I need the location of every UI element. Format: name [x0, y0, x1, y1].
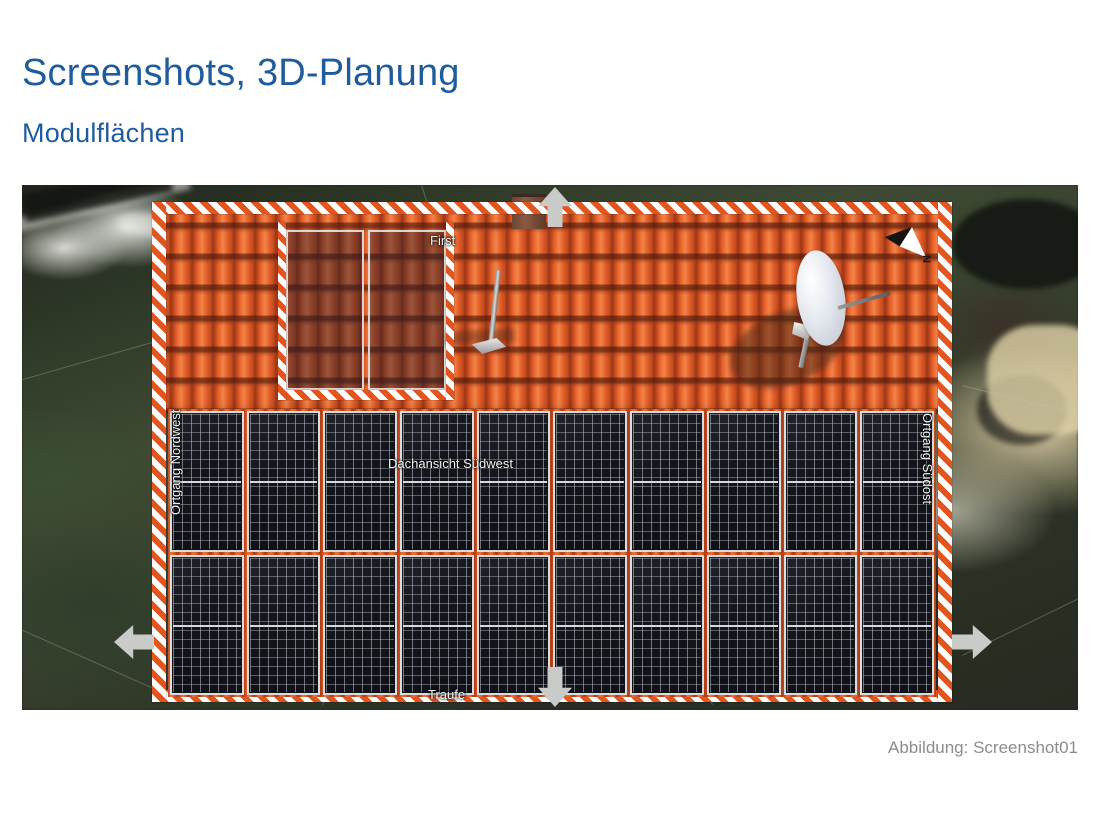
pv-module[interactable]: [400, 555, 474, 696]
module-area-right[interactable]: [368, 230, 446, 390]
pv-module[interactable]: [170, 555, 244, 696]
module-area-left[interactable]: [286, 230, 364, 390]
module-area-hatch-right: [446, 222, 454, 400]
module-area-hatch-bottom: [278, 390, 454, 400]
screenshot-3d-planner-viewport[interactable]: First Traufe Dachansicht Südwest Ortgang…: [22, 185, 1078, 710]
pv-module[interactable]: [784, 411, 858, 552]
pv-module[interactable]: [323, 555, 397, 696]
pv-module[interactable]: [860, 555, 934, 696]
pv-module[interactable]: [247, 411, 321, 552]
pv-module[interactable]: [553, 555, 627, 696]
pv-module[interactable]: [170, 411, 244, 552]
pv-module[interactable]: [707, 411, 781, 552]
page-subtitle: Modulflächen: [22, 118, 185, 149]
pv-module-field[interactable]: [168, 409, 936, 697]
pv-module[interactable]: [630, 411, 704, 552]
pv-module[interactable]: [860, 411, 934, 552]
roof-selection-border-left[interactable]: [152, 202, 166, 702]
pv-module[interactable]: [477, 555, 551, 696]
pv-module[interactable]: [323, 411, 397, 552]
pv-module[interactable]: [400, 411, 474, 552]
north-arrow-icon[interactable]: N: [882, 227, 952, 287]
pv-module[interactable]: [707, 555, 781, 696]
page-title: Screenshots, 3D-Planung: [22, 52, 460, 95]
pv-module[interactable]: [247, 555, 321, 696]
figure-caption: Abbildung: Screenshot01: [888, 738, 1078, 758]
module-area-hatch-divider: [278, 222, 286, 400]
pv-module[interactable]: [553, 411, 627, 552]
roof-plane[interactable]: [152, 202, 952, 702]
pv-module[interactable]: [477, 411, 551, 552]
compass-north-letter: N: [920, 255, 932, 263]
pv-module[interactable]: [784, 555, 858, 696]
pv-module[interactable]: [630, 555, 704, 696]
